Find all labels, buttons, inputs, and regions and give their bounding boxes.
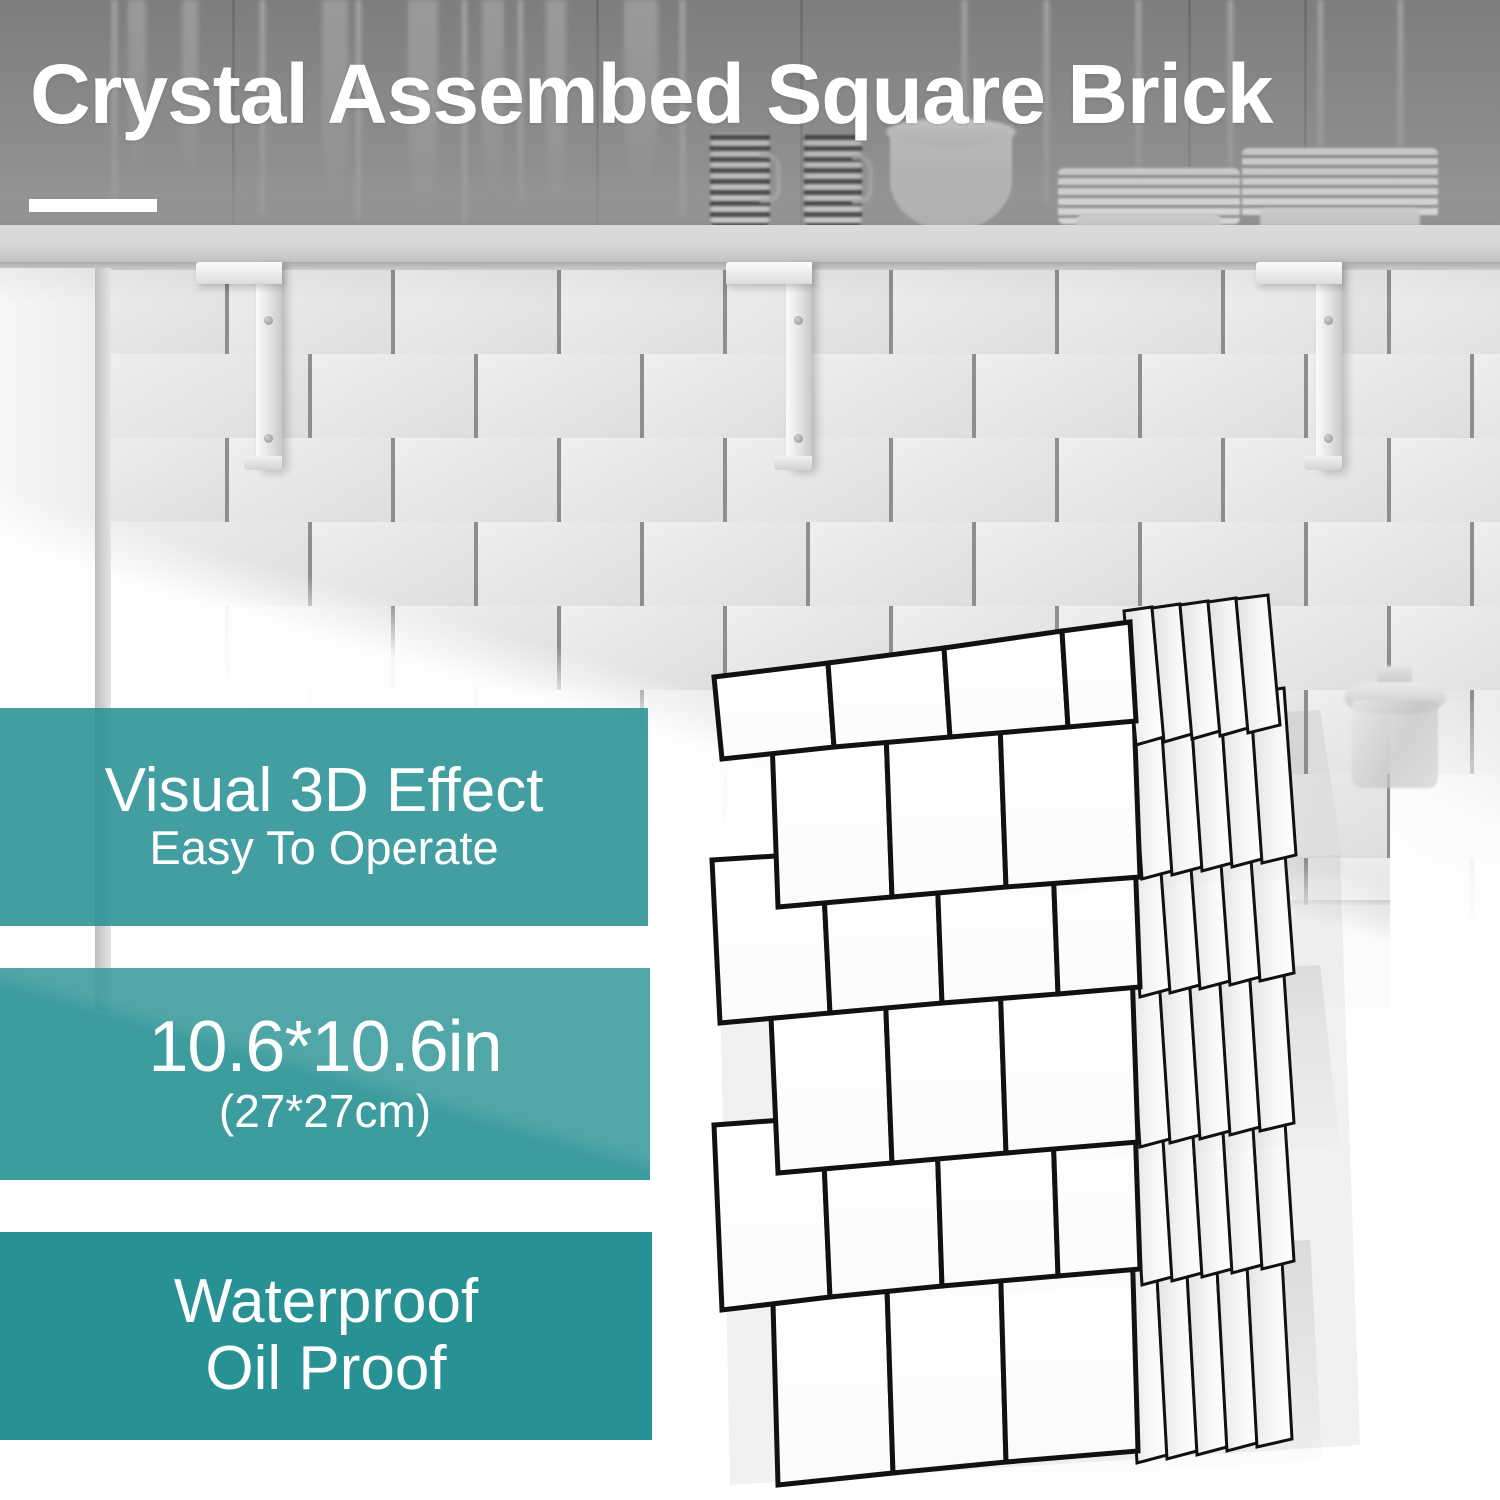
bracket-foot xyxy=(774,456,812,470)
bracket-screw xyxy=(794,434,803,443)
shelf-bracket xyxy=(1316,262,1342,470)
feature-banner-waterproof: Waterproof Oil Proof xyxy=(0,1232,652,1440)
page-title: Crystal Assembed Square Brick xyxy=(30,52,1272,136)
bracket-screw xyxy=(794,316,803,325)
banner-headline: Waterproof xyxy=(174,1269,478,1336)
tile-panel-illustration xyxy=(700,585,1500,1500)
feature-banner-visual-3d-effect: Visual 3D Effect Easy To Operate xyxy=(0,708,648,926)
bracket-foot xyxy=(244,456,282,470)
banner-subline: Oil Proof xyxy=(205,1336,446,1403)
shelf-bracket xyxy=(786,262,812,470)
feature-banner-dimensions: 10.6*10.6in (27*27cm) xyxy=(0,968,650,1180)
bracket-screw xyxy=(1324,434,1333,443)
banner-headline: 10.6*10.6in xyxy=(148,1010,501,1085)
bracket-foot xyxy=(1304,456,1342,470)
product-banner-image: Crystal Assembed Square Brick Visual 3D … xyxy=(0,0,1500,1500)
3d-subway-tile-panel xyxy=(700,585,1500,1500)
tile-row-1 xyxy=(714,595,1280,759)
banner-subline: Easy To Operate xyxy=(149,822,498,875)
title-underline-rule xyxy=(29,199,157,212)
bracket-horizontal-arm xyxy=(726,262,812,284)
bracket-screw xyxy=(264,316,273,325)
banner-headline: Visual 3D Effect xyxy=(105,759,544,822)
bracket-screw xyxy=(264,434,273,443)
banner-subline: (27*27cm) xyxy=(219,1085,431,1138)
bracket-screw xyxy=(1324,316,1333,325)
shelf-bracket xyxy=(256,262,282,470)
bracket-horizontal-arm xyxy=(196,262,282,284)
bracket-horizontal-arm xyxy=(1256,262,1342,284)
